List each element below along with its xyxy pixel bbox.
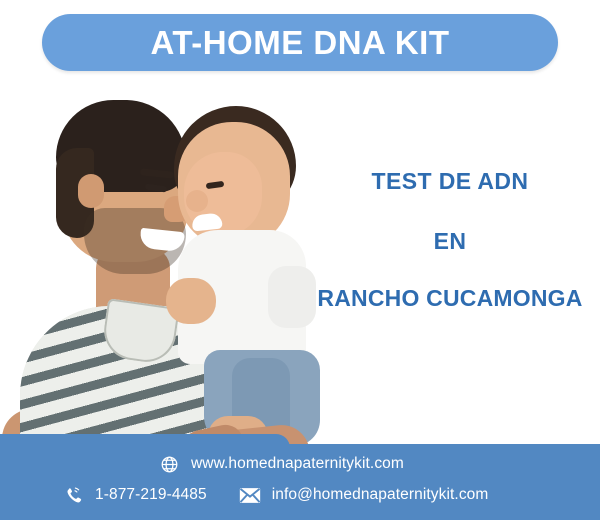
father-ear <box>78 174 104 208</box>
family-photo <box>0 78 320 450</box>
website-item[interactable]: www.homednapaternitykit.com <box>158 453 404 475</box>
headline-line-3: RANCHO CUCAMONGA <box>300 285 600 312</box>
header-title: AT-HOME DNA KIT <box>42 14 558 71</box>
phone-item[interactable]: 1-877-219-4485 <box>62 484 207 506</box>
email-item[interactable]: info@homednapaternitykit.com <box>239 484 489 506</box>
envelope-icon <box>239 484 261 506</box>
email-text: info@homednapaternitykit.com <box>272 486 489 504</box>
headline-line-1: TEST DE ADN <box>300 168 600 195</box>
headline-line-2: EN <box>300 228 600 255</box>
website-text: www.homednapaternitykit.com <box>191 455 404 473</box>
header-banner: AT-HOME DNA KIT <box>0 0 600 90</box>
footer-row-website: www.homednapaternitykit.com <box>158 453 404 475</box>
footer-row-phone-email: 1-877-219-4485 info@homednapaternitykit.… <box>62 484 488 506</box>
toddler-arm <box>166 278 216 324</box>
phone-icon <box>62 484 84 506</box>
toddler-nose <box>186 190 208 212</box>
phone-text: 1-877-219-4485 <box>95 486 207 504</box>
footer-contact-bar: www.homednapaternitykit.com 1-877-219-44… <box>0 444 600 520</box>
globe-icon <box>158 453 180 475</box>
dna-kit-promo-poster: AT-HOME DNA KIT TEST DE ADN EN <box>0 0 600 520</box>
